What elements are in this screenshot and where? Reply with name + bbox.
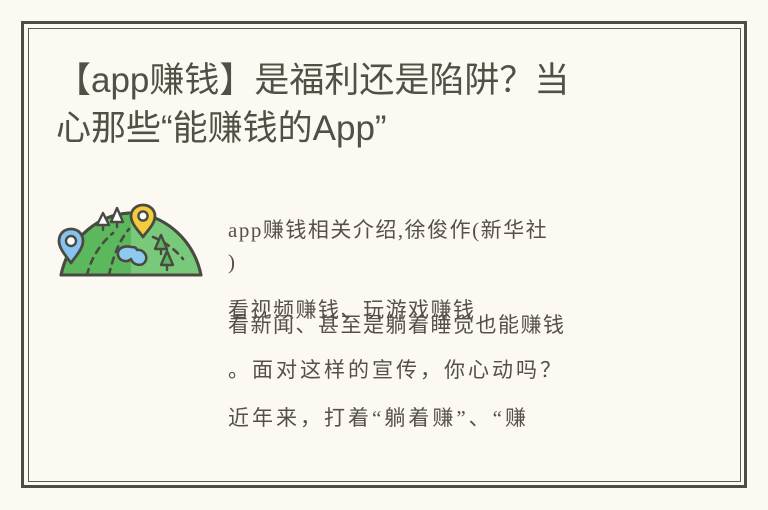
article-card: 【app赚钱】是福利还是陷阱？当 心那些“能赚钱的App” bbox=[0, 0, 768, 510]
page-title: 【app赚钱】是福利还是陷阱？当 心那些“能赚钱的App” bbox=[56, 57, 706, 153]
page-title-line-1: 【app赚钱】是福利还是陷阱？当 bbox=[56, 57, 706, 105]
page-title-line-2: 心那些“能赚钱的App” bbox=[56, 105, 706, 153]
body-line-2: ) bbox=[228, 250, 237, 275]
body-line-5: 。面对这样的宣传，你心动吗？ bbox=[228, 354, 564, 384]
body-line-6: 近年来，打着“躺着赚”、“赚 bbox=[228, 402, 529, 432]
map-hill-illustration bbox=[57, 203, 205, 281]
body-line-1: app赚钱相关介绍,徐俊作(新华社 bbox=[228, 214, 548, 244]
body-line-4: 看新闻、甚至是躺着睡觉也能赚钱 bbox=[228, 309, 566, 339]
